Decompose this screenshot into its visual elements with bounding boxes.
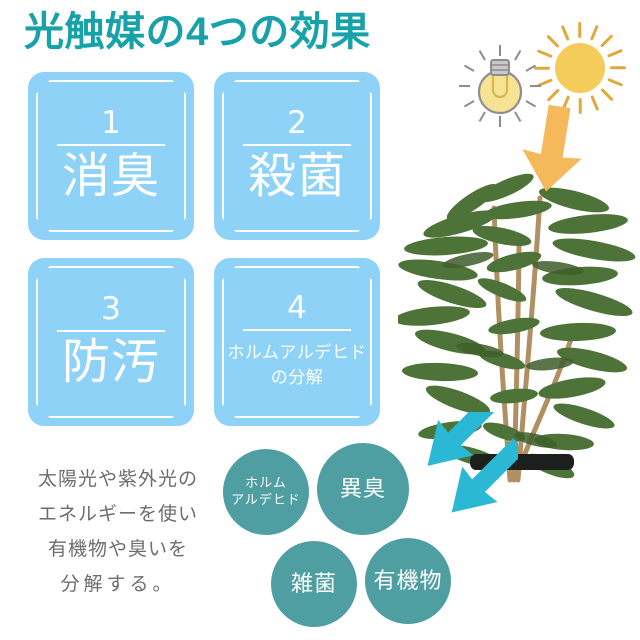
target-bubble-label: ホルム アルデヒド — [231, 475, 301, 509]
target-bubble-bacteria[interactable]: 雑菌 — [268, 538, 360, 630]
target-bubble-label: 異臭 — [340, 475, 386, 504]
target-bubble-label: 有機物 — [373, 567, 442, 596]
target-bubble-line: アルデヒド — [231, 492, 301, 507]
target-bubble-line: ホルム — [245, 475, 287, 490]
target-bubble-formaldehyde[interactable]: ホルム アルデヒド — [220, 446, 312, 538]
target-bubble-odor[interactable]: 異臭 — [314, 440, 412, 538]
infographic-canvas: 光触媒の4つの効果 — [0, 0, 640, 640]
target-bubble-organic-matter[interactable]: 有機物 — [362, 535, 454, 627]
target-bubble-label: 雑菌 — [291, 570, 337, 599]
target-bubble-group: ホルム アルデヒド 異臭 雑菌 有機物 — [0, 0, 640, 640]
